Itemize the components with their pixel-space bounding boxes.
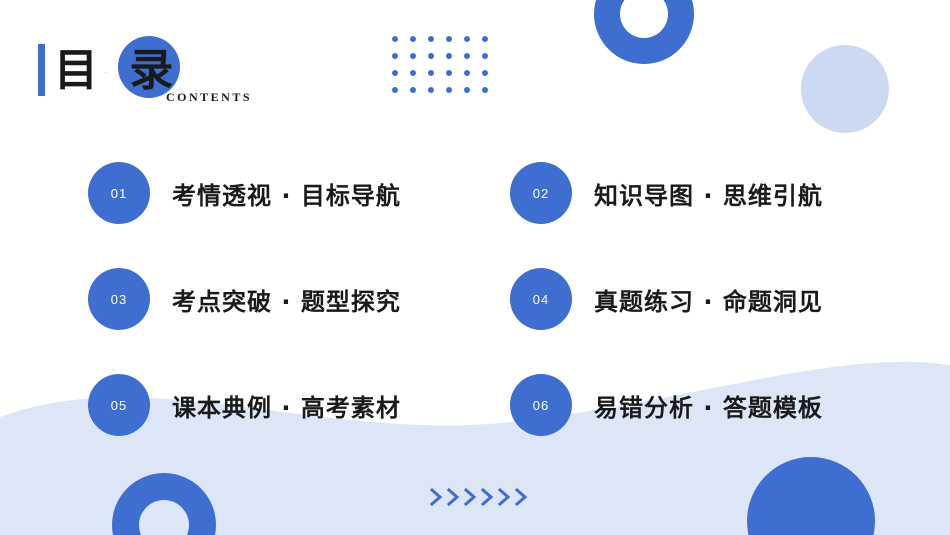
chevron-right-icon — [514, 487, 530, 507]
chevron-right-icon — [497, 487, 513, 507]
dot-decor — [482, 53, 488, 59]
toc-list: 01考情透视 · 目标导航02知识导图 · 思维引航03考点突破 · 题型探究0… — [88, 140, 888, 458]
dot-decor — [428, 53, 434, 59]
title-accent-bar — [38, 44, 45, 96]
toc-item-label: 课本典例 · 高考素材 — [172, 388, 401, 423]
dot-decor — [464, 70, 470, 76]
dot-decor — [428, 36, 434, 42]
title-chinese: 目 录 — [54, 34, 181, 98]
dot-decor — [446, 70, 452, 76]
dot-decor — [464, 36, 470, 42]
dot-decor — [410, 87, 416, 93]
toc-item-03[interactable]: 03考点突破 · 题型探究 — [88, 246, 510, 352]
toc-item-label: 考点突破 · 题型探究 — [172, 282, 401, 317]
dot-decor — [482, 87, 488, 93]
toc-item-number: 06 — [510, 374, 572, 436]
toc-item-number: 02 — [510, 162, 572, 224]
dot-decor — [446, 87, 452, 93]
dot-decor — [392, 36, 398, 42]
title-english: CONTENTS — [166, 90, 252, 105]
toc-item-05[interactable]: 05课本典例 · 高考素材 — [88, 352, 510, 458]
ring-circle-top-decor — [594, 0, 694, 64]
dot-decor — [446, 53, 452, 59]
dot-decor — [464, 53, 470, 59]
slide-canvas: 目 录 CONTENTS · 01考情透视 · 目标导航02知识导图 · 思维引… — [0, 0, 950, 535]
dot-decor — [428, 70, 434, 76]
solid-circle-bottom-decor — [747, 457, 875, 535]
tiny-mark-decor: · — [104, 68, 107, 77]
toc-item-number: 01 — [88, 162, 150, 224]
dot-decor — [410, 70, 416, 76]
chevron-right-icon — [480, 487, 496, 507]
pale-circle-right-decor — [801, 45, 889, 133]
toc-item-number: 04 — [510, 268, 572, 330]
toc-item-06[interactable]: 06易错分析 · 答题模板 — [510, 352, 888, 458]
dot-decor — [464, 87, 470, 93]
toc-item-number: 05 — [88, 374, 150, 436]
toc-item-label: 考情透视 · 目标导航 — [172, 176, 401, 211]
toc-item-label: 知识导图 · 思维引航 — [594, 176, 823, 211]
toc-item-label: 真题练习 · 命题洞见 — [594, 282, 823, 317]
toc-item-label: 易错分析 · 答题模板 — [594, 388, 823, 423]
toc-item-02[interactable]: 02知识导图 · 思维引航 — [510, 140, 888, 246]
chevron-arrows-decor — [429, 487, 530, 507]
dot-grid-decor — [392, 36, 500, 104]
dot-decor — [482, 70, 488, 76]
dot-decor — [392, 87, 398, 93]
dot-decor — [410, 36, 416, 42]
toc-item-01[interactable]: 01考情透视 · 目标导航 — [88, 140, 510, 246]
dot-decor — [410, 53, 416, 59]
ring-circle-bottom-decor — [112, 473, 216, 535]
chevron-right-icon — [463, 487, 479, 507]
chevron-right-icon — [446, 487, 462, 507]
dot-decor — [392, 70, 398, 76]
dot-decor — [482, 36, 488, 42]
dot-decor — [428, 87, 434, 93]
toc-item-04[interactable]: 04真题练习 · 命题洞见 — [510, 246, 888, 352]
dot-decor — [392, 53, 398, 59]
chevron-right-icon — [429, 487, 445, 507]
toc-item-number: 03 — [88, 268, 150, 330]
dot-decor — [446, 36, 452, 42]
